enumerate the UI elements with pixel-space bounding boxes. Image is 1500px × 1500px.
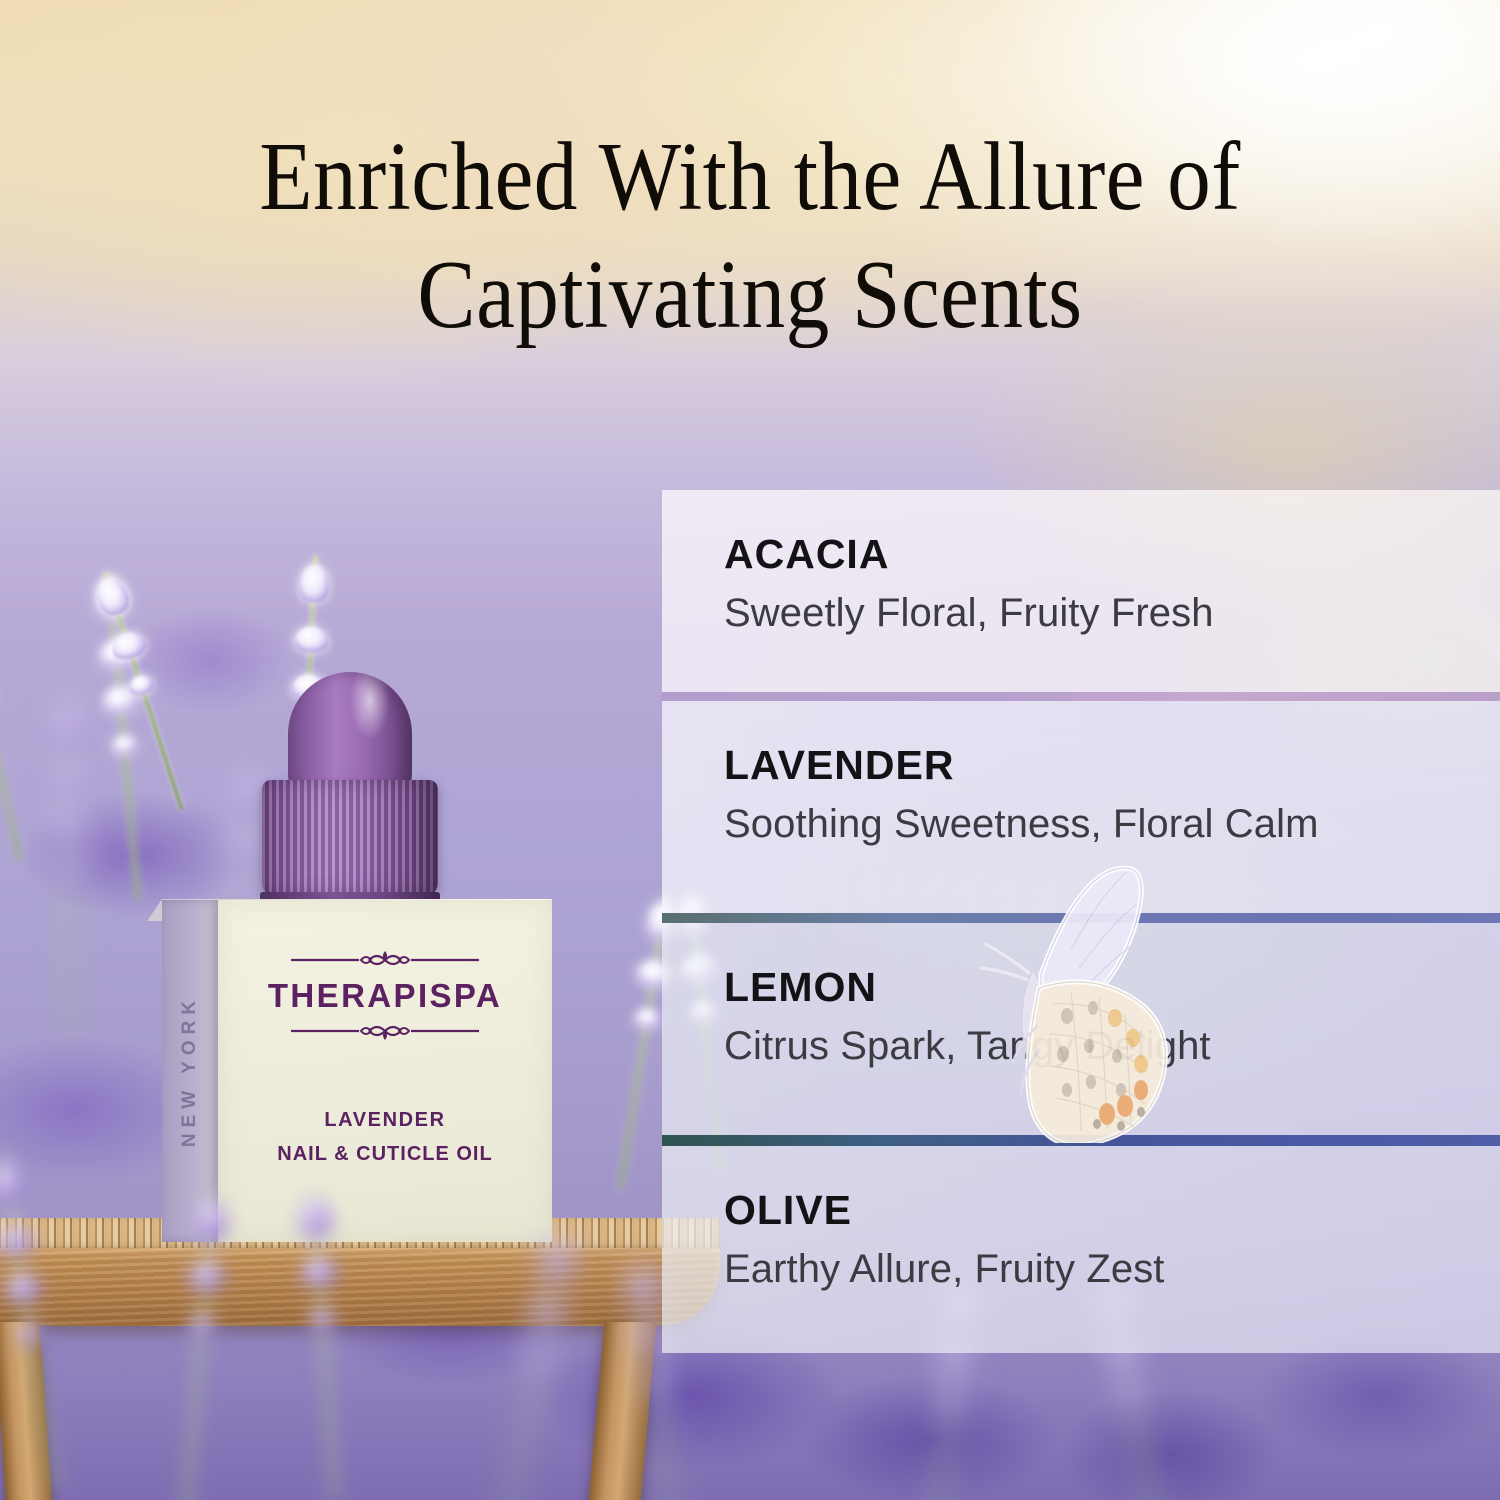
- bottle-cap-ribbed: [262, 780, 438, 896]
- ornament-flourish-bottom: [287, 1019, 483, 1043]
- scent-description: Soothing Sweetness, Floral Calm: [724, 803, 1500, 845]
- lavender-sprig-far: [40, 700, 100, 1030]
- brand-name: THERAPISPA: [268, 977, 502, 1015]
- bottle-side-text: NEW YORK: [179, 995, 201, 1147]
- scent-name: ACACIA: [724, 534, 1500, 575]
- scent-name: OLIVE: [724, 1190, 1500, 1231]
- headline-line-2: Captivating Scents: [75, 236, 1425, 354]
- scent-name: LAVENDER: [724, 745, 1500, 786]
- scent-item-olive[interactable]: OLIVE Earthy Allure, Fruity Zest: [662, 1146, 1500, 1353]
- scent-description: Sweetly Floral, Fruity Fresh: [724, 592, 1500, 634]
- bottle-label: THERAPISPA LAVENDER NAIL & CUTICLE OIL: [218, 900, 552, 1242]
- butterfly-icon: [975, 858, 1215, 1143]
- product-marketing-image: NEW YORK THERAPISPA: [0, 0, 1500, 1500]
- bottle-body: NEW YORK THERAPISPA: [162, 900, 552, 1242]
- product-variant: LAVENDER: [324, 1109, 445, 1132]
- ornament-flourish-top: [287, 948, 483, 972]
- product-type: NAIL & CUTICLE OIL: [277, 1143, 492, 1166]
- scent-item-acacia[interactable]: ACACIA Sweetly Floral, Fruity Fresh: [662, 490, 1500, 692]
- scent-divider: [662, 692, 1500, 701]
- scent-description: Earthy Allure, Fruity Zest: [724, 1248, 1500, 1290]
- product-bottle: NEW YORK THERAPISPA: [150, 672, 550, 1242]
- headline-line-1: Enriched With the Allure of: [259, 123, 1241, 230]
- page-title: Enriched With the Allure of Captivating …: [75, 118, 1425, 355]
